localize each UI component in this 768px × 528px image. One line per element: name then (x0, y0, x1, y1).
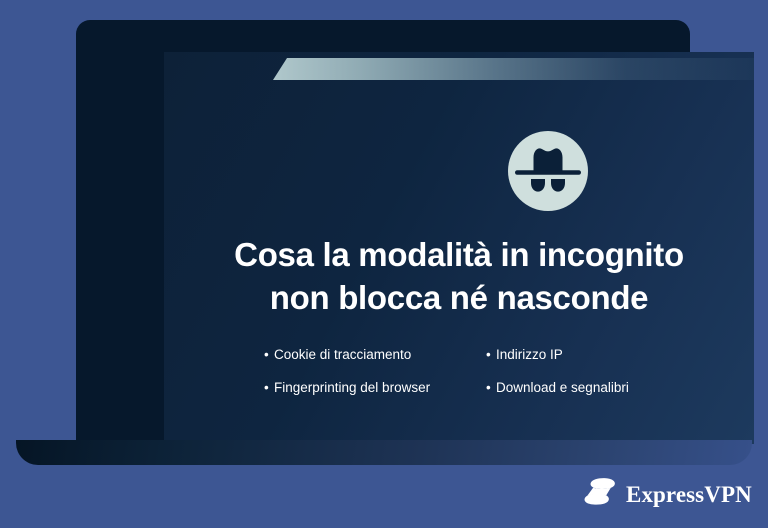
bullet-marker-icon: • (486, 346, 496, 364)
expressvpn-logo-mark (583, 477, 617, 512)
slide-heading: Cosa la modalità in incognito non blocca… (232, 234, 686, 319)
laptop-screen: Cosa la modalità in incognito non blocca… (164, 52, 754, 444)
bullet-column-right: • Indirizzo IP • Download e segnalibri (486, 346, 656, 412)
incognito-hat-glasses-icon (506, 129, 590, 213)
bullet-list-area: • Cookie di tracciamento • Fingerprintin… (264, 346, 656, 412)
expressvpn-wordmark: ExpressVPN (626, 482, 752, 508)
screen-glare-highlight (273, 58, 754, 80)
expressvpn-logo: ExpressVPN (583, 477, 752, 512)
list-item: • Download e segnalibri (486, 379, 656, 397)
bullet-marker-icon: • (264, 346, 274, 364)
list-item-label: Indirizzo IP (496, 346, 656, 364)
bullet-column-left: • Cookie di tracciamento • Fingerprintin… (264, 346, 434, 412)
laptop-base (16, 440, 752, 465)
bullet-marker-icon: • (264, 379, 274, 397)
bullet-marker-icon: • (486, 379, 496, 397)
laptop-lid: Cosa la modalità in incognito non blocca… (76, 20, 690, 444)
slide-canvas: Cosa la modalità in incognito non blocca… (0, 0, 768, 528)
list-item-label: Cookie di tracciamento (274, 346, 434, 364)
list-item: • Fingerprinting del browser (264, 379, 434, 397)
list-item: • Indirizzo IP (486, 346, 656, 364)
list-item: • Cookie di tracciamento (264, 346, 434, 364)
list-item-label: Download e segnalibri (496, 379, 656, 397)
list-item-label: Fingerprinting del browser (274, 379, 434, 397)
